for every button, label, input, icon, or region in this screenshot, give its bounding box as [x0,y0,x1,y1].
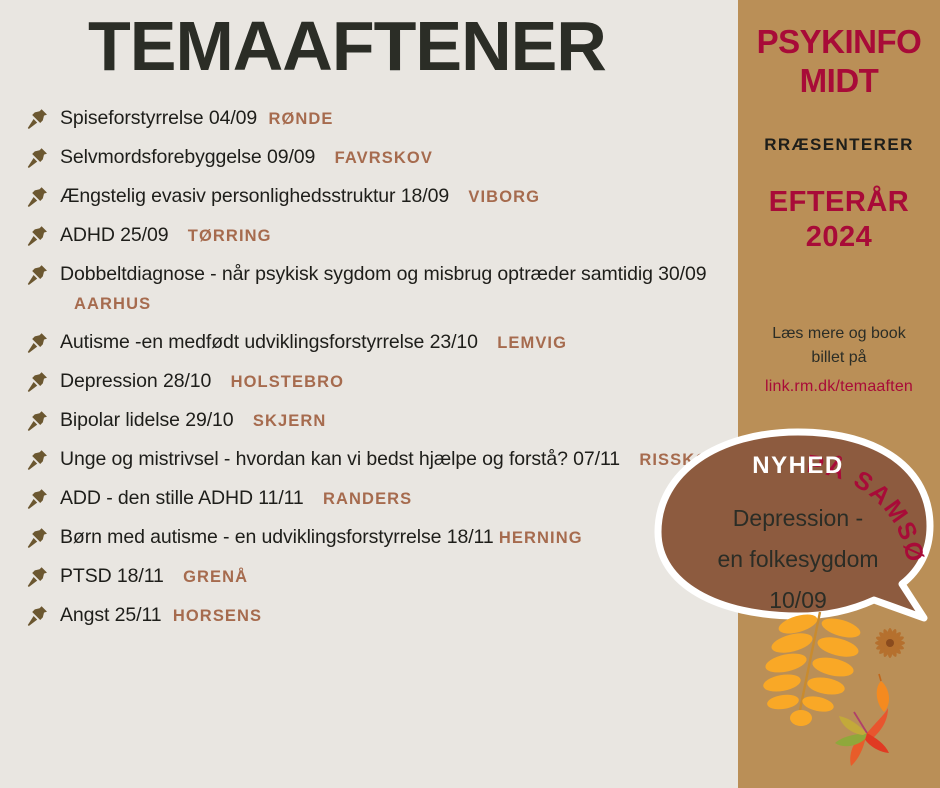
brand-title: PSYKINFO MIDT [738,22,940,100]
presents-label: RRÆSENTERER [738,135,940,155]
event-list-item: ADD - den stille ADHD 11/11 RANDERS [24,484,740,514]
event-list-item: Dobbeltdiagnose - når psykisk sygdom og … [24,260,740,319]
red-maple-leaf-icon [835,708,889,766]
event-title-and-date: Autisme -en medfødt udviklingsforstyrrel… [60,331,483,353]
star-anise-icon [875,628,905,658]
event-text: Bipolar lidelse 29/10 SKJERN [60,406,326,436]
event-location: SKJERN [253,412,327,430]
event-list-item: Selvmordsforebyggelse 09/09 FAVRSKOV [24,143,740,173]
pushpin-icon [24,408,50,434]
event-title-and-date: Ængstelig evasiv personlighedsstruktur 1… [60,185,454,207]
pushpin-icon [24,603,50,629]
event-location: VIBORG [468,188,540,206]
pushpin-icon [24,486,50,512]
event-title-and-date: Bipolar lidelse 29/10 [60,409,239,431]
event-list: Spiseforstyrrelse 04/09 RØNDESelvmordsfo… [24,104,740,640]
bubble-line-1: Depression - [656,498,940,539]
event-location: HOLSTEBRO [231,373,344,391]
pushpin-icon [24,106,50,132]
event-text: Selvmordsforebyggelse 09/09 FAVRSKOV [60,143,433,173]
event-location: LEMVIG [497,334,567,352]
event-text: ADD - den stille ADHD 11/11 RANDERS [60,484,412,514]
event-title-and-date: ADD - den stille ADHD 11/11 [60,487,309,509]
season-heading: EFTERÅR 2024 [738,185,940,255]
brand-line-1: PSYKINFO [738,22,940,61]
event-list-item: ADHD 25/09 TØRRING [24,221,740,251]
event-text: Unge og mistrivsel - hvordan kan vi beds… [60,445,721,475]
pushpin-icon [24,447,50,473]
event-location: RØNDE [268,110,333,128]
poster-canvas: TEMAAFTENER Spiseforstyrrelse 04/09 RØND… [0,0,940,788]
season-line-2: 2024 [738,220,940,255]
nyhed-badge: NYHED [648,452,940,480]
event-text: Autisme -en medfødt udviklingsforstyrrel… [60,328,567,358]
event-list-item: Spiseforstyrrelse 04/09 RØNDE [24,104,740,134]
pushpin-icon [24,525,50,551]
readmore-line-2: billet på [738,346,940,370]
event-list-item: Depression 28/10 HOLSTEBRO [24,367,740,397]
pushpin-icon [24,223,50,249]
pushpin-icon [24,145,50,171]
event-list-item: Børn med autisme - en udviklingsforstyrr… [24,523,740,553]
event-text: Angst 25/11 HORSENS [60,601,262,631]
event-location: TØRRING [188,227,272,245]
event-text: PTSD 18/11 GRENÅ [60,562,248,592]
pushpin-icon [24,564,50,590]
event-title-and-date: ADHD 25/09 [60,224,174,246]
event-list-item: Angst 25/11 HORSENS [24,601,740,631]
event-location: HERNING [499,529,583,547]
event-title-and-date: Unge og mistrivsel - hvordan kan vi beds… [60,448,625,470]
event-list-item: Bipolar lidelse 29/10 SKJERN [24,406,740,436]
event-location: HORSENS [173,607,262,625]
page-title: TEMAAFTENER [88,4,606,88]
season-line-1: EFTERÅR [738,185,940,220]
event-list-item: Unge og mistrivsel - hvordan kan vi beds… [24,445,740,475]
event-list-item: Ængstelig evasiv personlighedsstruktur 1… [24,182,740,212]
event-location: AARHUS [74,295,151,313]
readmore-text: Læs mere og book billet på [738,322,940,370]
event-title-and-date: Angst 25/11 [60,604,167,626]
autumn-leaves-decoration [738,588,940,788]
event-title-and-date: PTSD 18/11 [60,565,169,587]
event-location: FAVRSKOV [335,149,433,167]
event-text: Depression 28/10 HOLSTEBRO [60,367,344,397]
event-text: Børn med autisme - en udviklingsforstyrr… [60,523,583,553]
event-location: GRENÅ [183,568,248,586]
event-text: Ængstelig evasiv personlighedsstruktur 1… [60,182,540,212]
readmore-line-1: Læs mere og book [738,322,940,346]
event-list-item: Autisme -en medfødt udviklingsforstyrrel… [24,328,740,358]
event-text: Spiseforstyrrelse 04/09 RØNDE [60,104,334,134]
event-text: ADHD 25/09 TØRRING [60,221,272,251]
event-title-and-date: Dobbeltdiagnose - når psykisk sygdom og … [60,263,706,285]
event-title-and-date: Spiseforstyrrelse 04/09 [60,107,262,129]
pushpin-icon [24,262,50,288]
bubble-line-2: en folkesygdom [656,539,940,580]
pushpin-icon [24,369,50,395]
event-title-and-date: Depression 28/10 [60,370,217,392]
booking-link[interactable]: link.rm.dk/temaaften [738,378,940,396]
brand-line-2: MIDT [738,61,940,100]
event-text: Dobbeltdiagnose - når psykisk sygdom og … [60,260,740,319]
event-list-item: PTSD 18/11 GRENÅ [24,562,740,592]
event-title-and-date: Børn med autisme - en udviklingsforstyrr… [60,526,499,548]
pushpin-icon [24,184,50,210]
event-title-and-date: Selvmordsforebyggelse 09/09 [60,146,321,168]
small-orange-leaf-icon [877,674,889,712]
compound-autumn-leaf-icon [762,611,863,726]
pushpin-icon [24,330,50,356]
event-location: RANDERS [323,490,412,508]
